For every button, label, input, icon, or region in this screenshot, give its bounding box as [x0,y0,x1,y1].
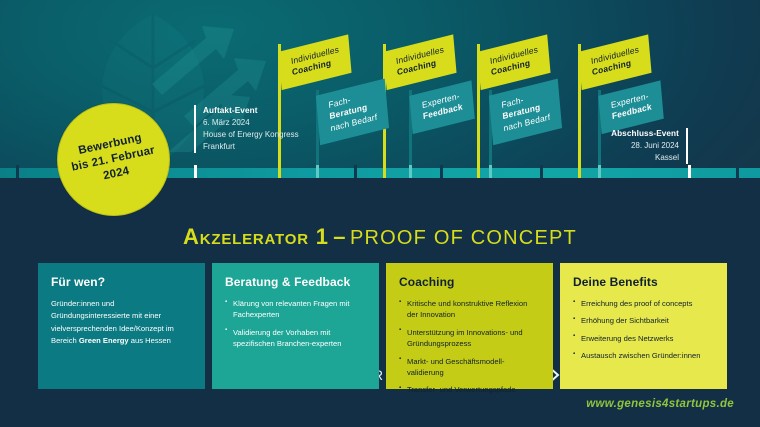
card-title: Für wen? [51,275,192,289]
card-paragraph: Gründer:innen und Gründungsinteressierte… [51,298,192,347]
application-deadline-badge: Bewerbung bis 21. Februar 2024 [57,103,170,216]
timeline-tick [598,165,601,178]
list-item: Erreichung des proof of concepts [573,298,714,309]
website-url[interactable]: www.genesis4startups.de [586,398,734,410]
card-fuer-wen: Für wen? Gründer:innen und Gründungsinte… [38,263,205,389]
page-title-part2: PROOF OF CONCEPT [350,227,577,249]
event-title: Auftakt-Event [203,105,299,117]
event-label-auftakt: Auftakt-Event 6. März 2024 House of Ener… [194,105,299,153]
event-city: Frankfurt [203,141,299,153]
flag-feedback-1: Experten- Feedback [409,80,474,134]
flag-coaching-2: Individuelles Coaching [383,34,457,90]
event-city: Kassel [595,152,679,164]
list-item: Erweiterung des Netzwerks [573,333,714,344]
list-item: Unterstützung im Innovations- und Gründu… [399,327,540,350]
page-title-part1: Akzelerator 1 [183,224,329,249]
card-list: Erreichung des proof of concepts Erhöhun… [573,298,714,362]
timeline-tick [278,165,281,178]
card-title: Coaching [399,275,540,289]
timeline-tick [383,165,386,178]
card-coaching: Coaching Kritische und konstruktive Refl… [386,263,553,389]
page-title: Akzelerator 1 – PROOF OF CONCEPT [0,224,760,250]
card-list: Kritische und konstruktive Reflexion der… [399,298,540,396]
timeline-tick [354,165,357,178]
flag-coaching-3: Individuelles Coaching [477,34,551,90]
flag-beratung-1: Fach- Beratung nach Bedarf [316,79,389,146]
list-item: Austausch zwischen Gründer:innen [573,350,714,361]
list-item: Kritische und konstruktive Reflexion der… [399,298,540,321]
event-date: 28. Juni 2024 [595,140,679,152]
flag-beratung-2: Fach- Beratung nach Bedarf [489,79,562,146]
card-beratung-feedback: Beratung & Feedback Klärung von relevant… [212,263,379,389]
flag-coaching-1: Individuelles Coaching [278,34,352,90]
event-date: 6. März 2024 [203,117,299,129]
list-item: Validierung der Vorhaben mit spezifische… [225,327,366,350]
list-item: Markt- und Geschäftsmodell-validierung [399,356,540,379]
timeline-tick [540,165,543,178]
event-title: Abschluss-Event [595,128,679,140]
list-item: Klärung von relevanten Fragen mit Fachex… [225,298,366,321]
infographic-canvas: Individuelles Coaching Fach- Beratung na… [0,0,760,427]
flag-feedback-2: Experten- Feedback [598,80,663,134]
card-title: Deine Benefits [573,275,714,289]
page-title-dash: – [333,224,345,249]
timeline-tick [688,165,691,178]
timeline-tick [440,165,443,178]
list-item: Transfer- und Verwertungspfade [399,384,540,395]
card-paragraph-emphasis: Green Energy [79,336,129,345]
card-deine-benefits: Deine Benefits Erreichung des proof of c… [560,263,727,389]
event-label-abschluss: Abschluss-Event 28. Juni 2024 Kassel [595,128,688,164]
timeline-tick [409,165,412,178]
timeline-tick [16,165,19,178]
timeline-tick [578,165,581,178]
event-venue: House of Energy Kongress [203,129,299,141]
card-list: Klärung von relevanten Fragen mit Fachex… [225,298,366,350]
timeline-tick [194,165,197,178]
list-item: Erhöhung der Sichtbarkeit [573,315,714,326]
flag-coaching-4: Individuelles Coaching [578,34,652,90]
timeline-tick [489,165,492,178]
card-title: Beratung & Feedback [225,275,366,289]
card-paragraph-post: aus Hessen [129,336,171,345]
timeline-tick [316,165,319,178]
timeline-tick [736,165,739,178]
timeline-tick [477,165,480,178]
